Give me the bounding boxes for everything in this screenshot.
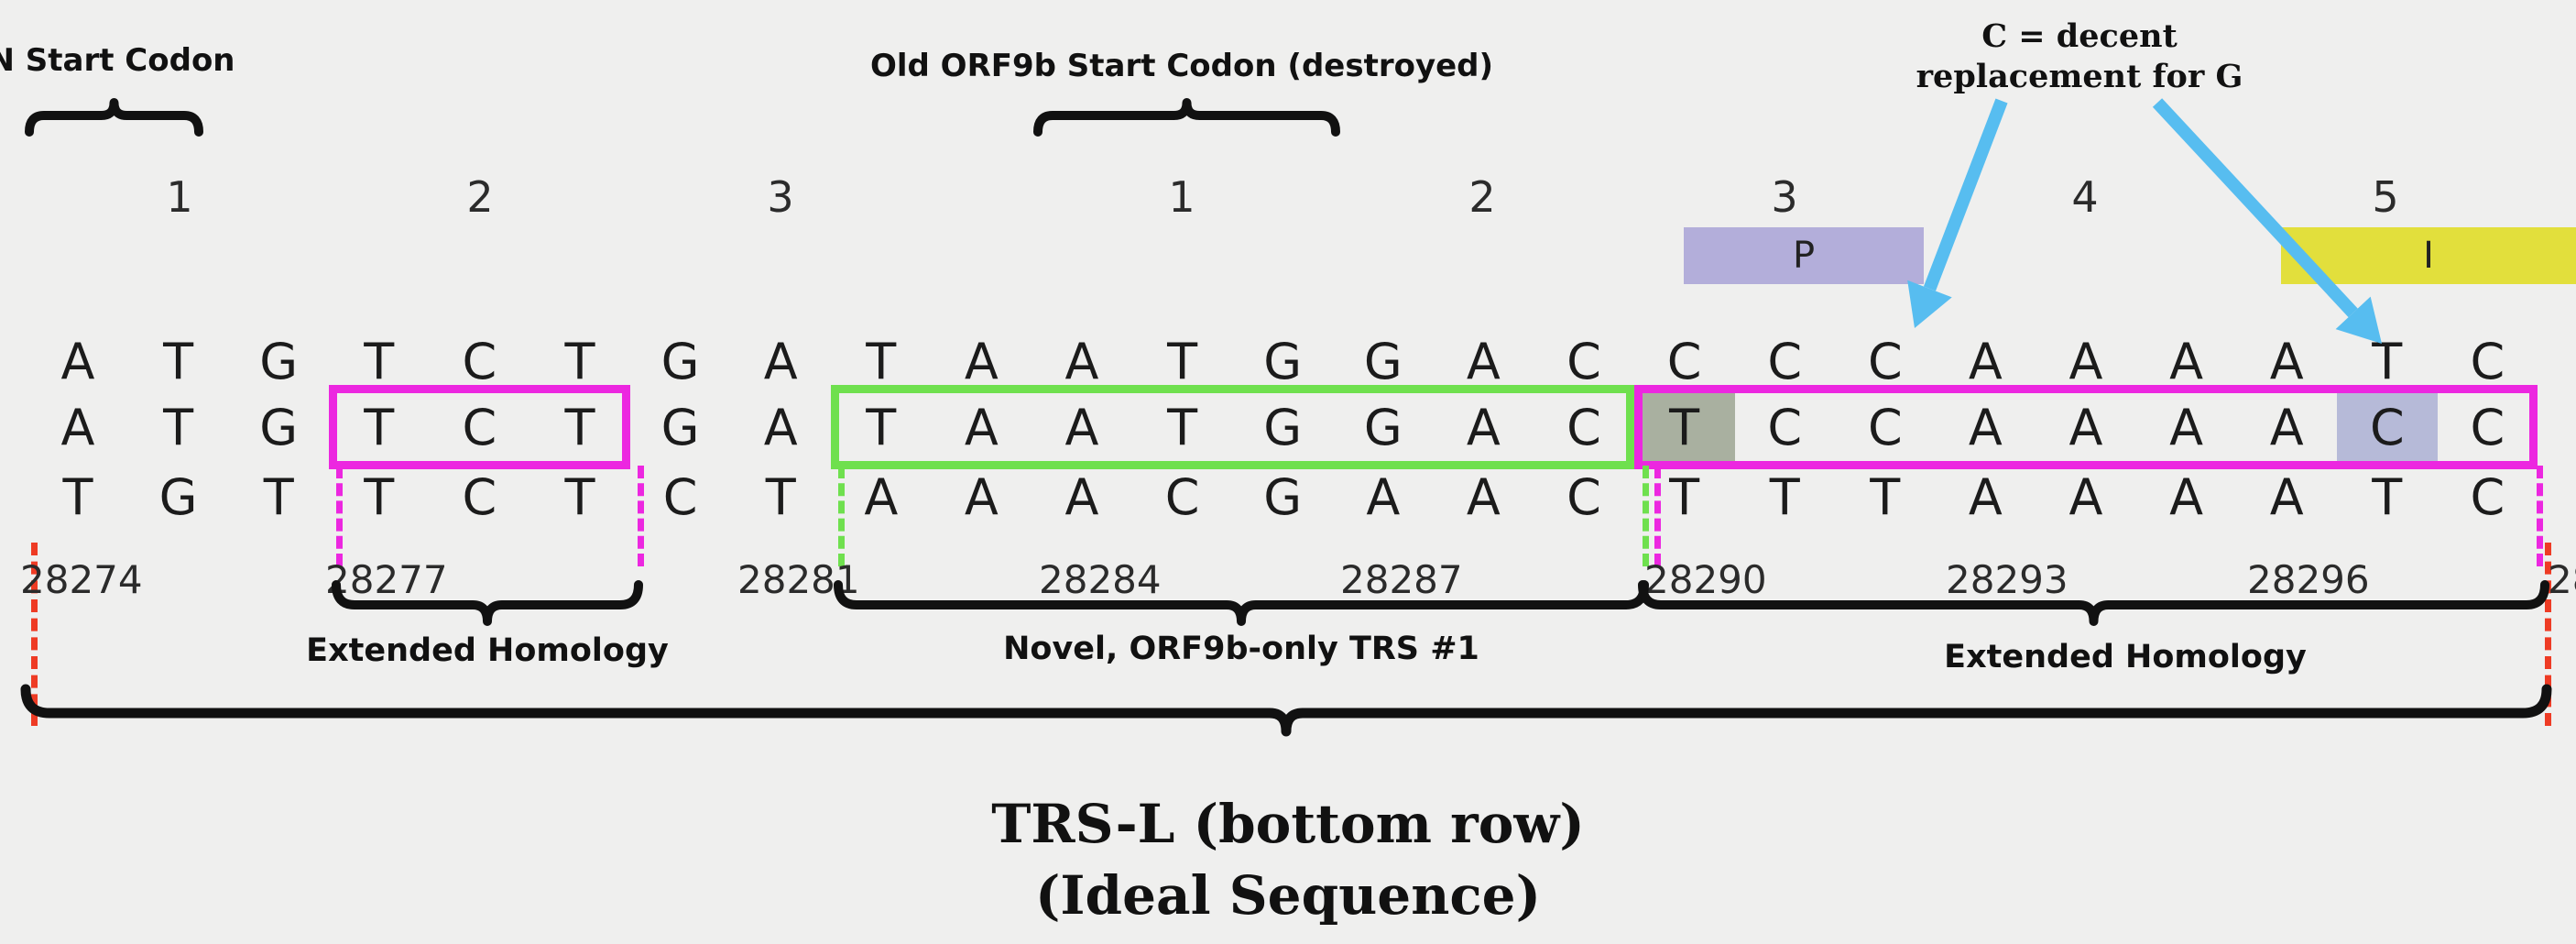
bottom-row-base: A	[1031, 473, 1132, 522]
bottom-row-base: T	[2337, 473, 2438, 522]
title-line-2: (Ideal Sequence)	[0, 860, 2576, 931]
codon-number: 2	[1427, 172, 1537, 222]
header-label: Old ORF9b Start Codon (destroyed)	[540, 48, 1823, 84]
codon-number: 3	[1730, 172, 1839, 222]
bottom-row-base: C	[630, 473, 731, 522]
middle-row-base: C	[2437, 403, 2538, 453]
top-row-base: A	[1935, 337, 2036, 387]
middle-row-base: A	[27, 403, 128, 453]
bottom-row-base: A	[2236, 473, 2337, 522]
title-line-1: TRS-L (bottom row)	[0, 788, 2576, 860]
middle-row-base: A	[2036, 403, 2136, 453]
middle-row-base: C	[1534, 403, 1634, 453]
codon-number: 1	[125, 172, 235, 222]
top-row-base: A	[2136, 337, 2237, 387]
genome-position-number: 28281	[737, 557, 860, 602]
orf9b-start-codon-bracket	[1038, 103, 1336, 132]
genome-position-number: 28274	[20, 557, 143, 602]
genome-position-number: 28	[2548, 557, 2576, 602]
middle-row-base: A	[1935, 403, 2036, 453]
top-row-base: A	[931, 337, 1031, 387]
bottom-row-base: A	[1935, 473, 2036, 522]
bottom-row-base: C	[1132, 473, 1233, 522]
top-row-base: G	[1333, 337, 1434, 387]
genome-position-number: 28277	[325, 557, 448, 602]
top-row-base: G	[228, 337, 329, 387]
bottom-row-base: T	[1734, 473, 1835, 522]
middle-row-base: A	[730, 403, 831, 453]
top-row-base: C	[429, 337, 529, 387]
top-row-base: A	[27, 337, 128, 387]
top-row-base: C	[1835, 337, 1936, 387]
middle-row-base: G	[1333, 403, 1434, 453]
bottom-row-base: T	[228, 473, 329, 522]
bottom-row-base: A	[2136, 473, 2237, 522]
callout-line-2: replacement for G	[1759, 57, 2400, 97]
top-row-base: T	[128, 337, 229, 387]
middle-row-base: G	[630, 403, 731, 453]
bottom-row-base: T	[329, 473, 430, 522]
middle-row-base: G	[228, 403, 329, 453]
genome-position-number: 28296	[2247, 557, 2370, 602]
middle-row-base: T	[1634, 403, 1735, 453]
bottom-row-base: G	[128, 473, 229, 522]
codon-number: 3	[726, 172, 835, 222]
genome-position-number: 28290	[1644, 557, 1767, 602]
arrow-to-position-3	[1907, 101, 2002, 328]
middle-row-base: G	[1232, 403, 1333, 453]
top-row-base: T	[1132, 337, 1233, 387]
middle-row-base: A	[2136, 403, 2237, 453]
bottom-row-base: T	[1634, 473, 1735, 522]
top-row-base: G	[1232, 337, 1333, 387]
bottom-row-base: A	[831, 473, 932, 522]
top-row-base: A	[1031, 337, 1132, 387]
bottom-row-base: C	[429, 473, 529, 522]
top-row-base: C	[1634, 337, 1735, 387]
middle-row-base: A	[931, 403, 1031, 453]
amino-acid-label: I	[2423, 235, 2434, 277]
middle-row-base: T	[329, 403, 430, 453]
middle-row-base: T	[128, 403, 229, 453]
bottom-row-base: A	[2036, 473, 2136, 522]
bottom-row-base: T	[529, 473, 630, 522]
codon-number: 5	[2330, 172, 2440, 222]
top-row-base: C	[1734, 337, 1835, 387]
middle-row-base: T	[1132, 403, 1233, 453]
middle-row-base: A	[2236, 403, 2337, 453]
diagram-canvas: PI 12312345 N Start CodonOld ORF9b Start…	[0, 0, 2576, 944]
codon-number: 4	[2030, 172, 2140, 222]
middle-row-base: C	[1835, 403, 1936, 453]
middle-row-base: C	[2337, 403, 2438, 453]
middle-row-base: A	[1031, 403, 1132, 453]
codon-number: 2	[425, 172, 535, 222]
top-row-base: C	[2437, 337, 2538, 387]
middle-row-base: T	[529, 403, 630, 453]
top-row-base: C	[1534, 337, 1634, 387]
bottom-row-base: G	[1232, 473, 1333, 522]
bottom-row-base: A	[931, 473, 1031, 522]
middle-row-base: T	[831, 403, 932, 453]
top-row-base: T	[329, 337, 430, 387]
top-row-base: T	[2337, 337, 2438, 387]
top-row-base: A	[730, 337, 831, 387]
middle-row-base: C	[429, 403, 529, 453]
novel-trs-bracket	[838, 585, 1644, 621]
extended-homology-right-bracket-label: Extended Homology	[1576, 639, 2576, 675]
top-row-base: A	[1433, 337, 1534, 387]
figure-title: TRS-L (bottom row) (Ideal Sequence)	[0, 788, 2576, 932]
bottom-row-base: A	[1433, 473, 1534, 522]
amino-acid-box-p: P	[1684, 227, 1924, 284]
extended-homology-right-bracket	[1643, 585, 2545, 621]
genome-position-number: 28284	[1039, 557, 1162, 602]
bottom-row-base: T	[1835, 473, 1936, 522]
middle-row-base: A	[1433, 403, 1534, 453]
amino-acid-label: P	[1793, 235, 1815, 277]
arrow-to-position-5	[2157, 103, 2382, 344]
callout-line-1: C = decent	[1759, 16, 2400, 57]
genome-position-number: 28287	[1340, 557, 1463, 602]
top-row-base: T	[529, 337, 630, 387]
n-start-codon-bracket	[29, 103, 199, 132]
middle-row-base: C	[1734, 403, 1835, 453]
codon-number: 1	[1127, 172, 1237, 222]
amino-acid-box-i: I	[2281, 227, 2576, 284]
genome-position-number: 28293	[1946, 557, 2068, 602]
top-row-base: A	[2036, 337, 2136, 387]
bottom-row-base: T	[27, 473, 128, 522]
bottom-row-base: C	[1534, 473, 1634, 522]
trs-l-bracket	[26, 689, 2547, 731]
top-row-base: G	[630, 337, 731, 387]
top-row-base: T	[831, 337, 932, 387]
top-row-base: A	[2236, 337, 2337, 387]
bottom-row-base: A	[1333, 473, 1434, 522]
bottom-row-base: T	[730, 473, 831, 522]
bottom-row-base: C	[2437, 473, 2538, 522]
callout-c-decent-replacement: C = decent replacement for G	[1759, 16, 2400, 97]
